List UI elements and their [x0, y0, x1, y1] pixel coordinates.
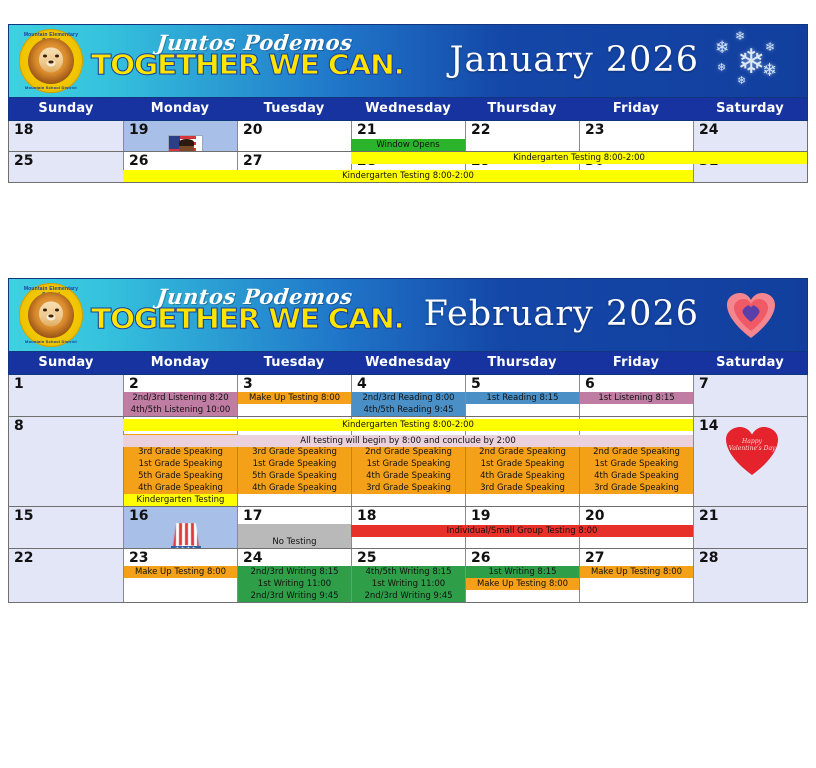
day-number: 23 — [124, 549, 237, 566]
day-cell[interactable]: 261st Writing 8:15Make Up Testing 8:00 — [465, 549, 579, 602]
span-event[interactable]: Kindergarten Testing 8:00-2:00 — [351, 152, 807, 164]
day-cell[interactable]: 23 — [579, 121, 693, 151]
day-event[interactable]: 1st Grade Speaking — [124, 458, 237, 470]
day-cell[interactable]: 3Make Up Testing 8:00 — [237, 375, 351, 416]
day-event[interactable]: 3rd Grade Speaking — [466, 482, 579, 494]
day-event[interactable]: 2nd/3rd Writing 9:45 — [238, 590, 351, 602]
weekday-header: SundayMondayTuesdayWednesdayThursdayFrid… — [8, 97, 808, 121]
calendar-page: Mountain Elementary SchoolMountain Schoo… — [0, 0, 816, 768]
lion-mane — [28, 38, 74, 84]
slogan-block: Juntos PodemosTOGETHER WE CAN. — [87, 283, 427, 347]
day-number: 8 — [9, 417, 123, 434]
span-event[interactable]: All testing will begin by 8:00 and concl… — [123, 435, 693, 447]
day-event[interactable]: 5th Grade Speaking — [238, 470, 351, 482]
day-cell[interactable]: 42nd/3rd Reading 8:004th/5th Reading 9:4… — [351, 375, 465, 416]
day-cell[interactable]: 21 — [693, 507, 807, 548]
snowflake-icon: ❄ — [737, 76, 746, 87]
day-event[interactable]: 4th Grade Speaking — [238, 482, 351, 494]
day-cell[interactable]: 8 — [9, 417, 123, 506]
weekday-thursday: Thursday — [465, 352, 579, 374]
lion-nose — [49, 314, 54, 317]
week-row: 1819MARTIN LUTHER KING JR.M L K DAY20212… — [9, 121, 807, 151]
day-number: 21 — [694, 507, 807, 524]
day-event[interactable]: 2nd/3rd Reading 8:00 — [352, 392, 465, 404]
day-number: 3 — [238, 375, 351, 392]
week-row: 1516★★★★17 No Testing18192021Individual/… — [9, 506, 807, 548]
weekday-saturday: Saturday — [693, 98, 807, 120]
day-number: 27 — [580, 549, 693, 566]
logo-ring-bottom: Mountain School District — [19, 339, 83, 344]
day-event[interactable]: 2nd Grade Speaking — [466, 446, 579, 458]
day-event[interactable]: 4th Grade Speaking — [352, 470, 465, 482]
day-cell[interactable]: 18 — [9, 121, 123, 151]
day-cell[interactable]: 7 — [693, 375, 807, 416]
day-number: 17 — [238, 507, 351, 524]
day-number: 24 — [694, 121, 807, 138]
day-cell[interactable]: 1 — [9, 375, 123, 416]
day-cell[interactable]: 20 — [237, 121, 351, 151]
day-event[interactable]: Make Up Testing 8:00 — [124, 566, 237, 578]
month-banner: Mountain Elementary SchoolMountain Schoo… — [8, 24, 808, 97]
week-row: 2223Make Up Testing 8:00242nd/3rd Writin… — [9, 548, 807, 602]
day-event[interactable]: 1st Writing 11:00 — [352, 578, 465, 590]
day-cell[interactable]: 242nd/3rd Writing 8:151st Writing 11:002… — [237, 549, 351, 602]
day-event[interactable]: 5th Grade Speaking — [124, 470, 237, 482]
month-title: January 2026 — [449, 41, 699, 79]
day-event[interactable]: 1st Writing 8:15 — [466, 566, 579, 578]
day-number: 5 — [466, 375, 579, 392]
day-number: 4 — [352, 375, 465, 392]
day-cell[interactable]: 254th/5th Writing 8:151st Writing 11:002… — [351, 549, 465, 602]
day-cell[interactable]: 27Make Up Testing 8:00 — [579, 549, 693, 602]
day-event[interactable]: Kindergarten Testing — [124, 494, 237, 506]
day-number: 18 — [352, 507, 465, 524]
day-event[interactable]: 3rd Grade Speaking — [238, 446, 351, 458]
lion-face — [39, 302, 63, 327]
weekday-wednesday: Wednesday — [351, 352, 465, 374]
lion-eye-right — [55, 55, 59, 58]
day-cell[interactable]: 19MARTIN LUTHER KING JR.M L K DAY — [123, 121, 237, 151]
day-event[interactable]: 1st Writing 11:00 — [238, 578, 351, 590]
logo-ring-bottom: Mountain School District — [19, 85, 83, 90]
day-number: 28 — [694, 549, 807, 566]
day-cell[interactable]: 15 — [9, 507, 123, 548]
weekday-sunday: Sunday — [9, 98, 123, 120]
mlk-day-icon: MARTIN LUTHER KING JR.M L K DAY — [164, 135, 208, 151]
day-event[interactable]: 2nd Grade Speaking — [352, 446, 465, 458]
day-number: 22 — [466, 121, 579, 138]
valentines-day-heart-icon: Happy Valentine's Day — [726, 427, 778, 475]
snowflake-icon: ❄ — [765, 41, 775, 53]
day-cell[interactable]: 16★★★★ — [123, 507, 237, 548]
heart-label: Happy Valentine's Day — [726, 438, 778, 452]
weekday-header: SundayMondayTuesdayWednesdayThursdayFrid… — [8, 351, 808, 375]
lion-face — [39, 48, 63, 73]
day-event[interactable]: 1st Reading 8:15 — [466, 392, 579, 404]
lion-eye-left — [43, 309, 47, 312]
snowflake-icon: ❄ — [762, 61, 777, 79]
day-event[interactable]: 1st Grade Speaking — [352, 458, 465, 470]
day-number: 7 — [694, 375, 807, 392]
presidents-day-hat-icon: ★★★★ — [164, 521, 208, 548]
day-number: 15 — [9, 507, 123, 524]
day-number: 25 — [352, 549, 465, 566]
day-event[interactable]: 2nd/3rd Listening 8:20 — [124, 392, 237, 404]
weekday-friday: Friday — [579, 352, 693, 374]
span-event[interactable]: Kindergarten Testing 8:00-2:00 — [123, 419, 693, 431]
day-cell[interactable]: 22nd/3rd Listening 8:204th/5th Listening… — [123, 375, 237, 416]
calendar-month-february: Mountain Elementary SchoolMountain Schoo… — [8, 278, 808, 603]
day-number: 24 — [238, 549, 351, 566]
weekday-friday: Friday — [579, 98, 693, 120]
day-event[interactable]: Make Up Testing 8:00 — [466, 578, 579, 590]
day-cell[interactable]: 61st Listening 8:15 — [579, 375, 693, 416]
day-number: 1 — [9, 375, 123, 392]
day-event[interactable] — [238, 524, 351, 536]
day-event[interactable]: 1st Listening 8:15 — [580, 392, 693, 404]
day-event[interactable]: 3rd Grade Speaking — [580, 482, 693, 494]
day-number: 19 — [466, 507, 579, 524]
slogan-english: TOGETHER WE CAN. — [91, 51, 404, 79]
lion-mane — [28, 292, 74, 338]
lion-eye-left — [43, 55, 47, 58]
day-number: 25 — [9, 152, 123, 169]
snowflake-icon: ❄ — [717, 63, 726, 74]
day-cell[interactable]: 51st Reading 8:15 — [465, 375, 579, 416]
day-cell[interactable]: 28 — [693, 549, 807, 602]
day-event[interactable]: Make Up Testing 8:00 — [238, 392, 351, 404]
day-cell[interactable]: 14Happy Valentine's Day — [693, 417, 807, 506]
month-banner: Mountain Elementary SchoolMountain Schoo… — [8, 278, 808, 351]
weekday-monday: Monday — [123, 98, 237, 120]
weekday-sunday: Sunday — [9, 352, 123, 374]
weekday-monday: Monday — [123, 352, 237, 374]
day-number: 18 — [9, 121, 123, 138]
lion-nose — [49, 60, 54, 63]
snowflakes-icon: ❄❄❄❄❄❄❄ — [707, 31, 793, 93]
snowflake-icon: ❄ — [715, 39, 729, 56]
day-number: 26 — [124, 152, 237, 169]
day-event[interactable]: 1st Grade Speaking — [466, 458, 579, 470]
day-number: 27 — [238, 152, 351, 169]
day-event[interactable]: Make Up Testing 8:00 — [580, 566, 693, 578]
day-event[interactable]: 2nd/3rd Writing 9:45 — [352, 590, 465, 602]
week-row: 122nd/3rd Listening 8:204th/5th Listenin… — [9, 375, 807, 416]
day-event[interactable]: 4th/5th Listening 10:00 — [124, 404, 237, 416]
month-title: February 2026 — [424, 295, 699, 333]
valentine-heart-icon — [727, 293, 775, 339]
span-event[interactable]: Window Opens — [351, 139, 465, 151]
day-cell[interactable]: 22 — [465, 121, 579, 151]
day-number: 22 — [9, 549, 123, 566]
weeks-grid: 1819MARTIN LUTHER KING JR.M L K DAY20212… — [8, 121, 808, 183]
day-number: 20 — [580, 507, 693, 524]
day-cell[interactable]: 25 — [9, 152, 123, 182]
valentine-heart-icon — [707, 285, 793, 347]
day-event[interactable]: 1st Grade Speaking — [580, 458, 693, 470]
day-event[interactable]: 2nd/3rd Writing 8:15 — [238, 566, 351, 578]
span-event[interactable]: Individual/Small Group Testing 8:00 — [351, 525, 693, 537]
snowflake-icon: ❄ — [735, 30, 745, 42]
weekday-thursday: Thursday — [465, 98, 579, 120]
weeks-grid: 122nd/3rd Listening 8:204th/5th Listenin… — [8, 375, 808, 603]
weekday-wednesday: Wednesday — [351, 98, 465, 120]
lion-logo: Mountain Elementary SchoolMountain Schoo… — [19, 283, 83, 347]
weekday-tuesday: Tuesday — [237, 98, 351, 120]
day-number: 23 — [580, 121, 693, 138]
day-cell[interactable]: 22 — [9, 549, 123, 602]
lion-eye-right — [55, 309, 59, 312]
weekday-tuesday: Tuesday — [237, 352, 351, 374]
lion-logo: Mountain Elementary SchoolMountain Schoo… — [19, 29, 83, 93]
portrait-hair — [179, 139, 194, 146]
day-event[interactable]: 2nd Grade Speaking — [580, 446, 693, 458]
day-event[interactable]: 4th/5th Reading 9:45 — [352, 404, 465, 416]
day-event[interactable]: 3rd Grade Speaking — [124, 446, 237, 458]
day-event[interactable]: No Testing — [238, 536, 351, 548]
day-event[interactable]: 4th/5th Writing 8:15 — [352, 566, 465, 578]
day-number: 6 — [580, 375, 693, 392]
day-event[interactable]: 4th Grade Speaking — [124, 482, 237, 494]
day-event[interactable]: 1st Grade Speaking — [238, 458, 351, 470]
day-cell[interactable]: 23Make Up Testing 8:00 — [123, 549, 237, 602]
slogan-block: Juntos PodemosTOGETHER WE CAN. — [87, 29, 427, 93]
slogan-english: TOGETHER WE CAN. — [91, 305, 404, 333]
weekday-saturday: Saturday — [693, 352, 807, 374]
day-cell[interactable]: 24 — [693, 121, 807, 151]
day-event[interactable]: 3rd Grade Speaking — [352, 482, 465, 494]
day-event[interactable]: 4th Grade Speaking — [580, 470, 693, 482]
calendar-month-january: Mountain Elementary SchoolMountain Schoo… — [8, 24, 808, 183]
day-number: 20 — [238, 121, 351, 138]
day-cell[interactable]: 17 No Testing — [237, 507, 351, 548]
span-event[interactable]: Kindergarten Testing 8:00-2:00 — [123, 170, 693, 182]
day-number: 26 — [466, 549, 579, 566]
day-event[interactable]: 4th Grade Speaking — [466, 470, 579, 482]
day-number: 2 — [124, 375, 237, 392]
day-number: 21 — [352, 121, 465, 138]
